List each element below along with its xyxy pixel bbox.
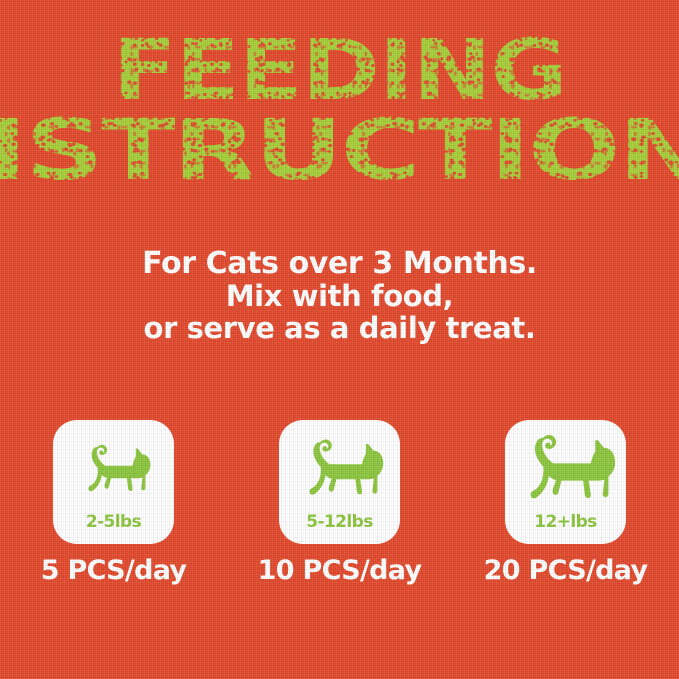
dosage-card: 12+lbs xyxy=(505,420,626,544)
subtitle-line-2: Mix with food, xyxy=(0,280,679,312)
dosage-card-large: 12+lbs 20 PCS/day xyxy=(453,420,679,584)
cat-silhouette-icon xyxy=(515,431,616,509)
dose-amount-label: 10 PCS/day xyxy=(258,557,422,584)
cat-silhouette-icon xyxy=(296,436,384,504)
subtitle-block: For Cats over 3 Months. Mix with food, o… xyxy=(0,248,679,344)
dosage-card-small: 2-5lbs 5 PCS/day xyxy=(1,420,227,584)
cat-icon-wrap xyxy=(505,426,626,514)
dosage-card-row: 2-5lbs 5 PCS/day 5-12lbs 10 PCS/day xyxy=(0,420,679,610)
headline-line-feeding: FEEDING xyxy=(0,28,679,112)
subtitle-line-3: or serve as a daily treat. xyxy=(0,312,679,344)
cat-icon-wrap xyxy=(53,426,174,514)
dosage-card: 2-5lbs xyxy=(53,420,174,544)
dosage-card-medium: 5-12lbs 10 PCS/day xyxy=(227,420,453,584)
weight-range-label: 2-5lbs xyxy=(86,514,141,544)
headline-line-2-text: INSTRUCTIONS xyxy=(0,101,679,199)
feeding-instructions-poster: FEEDING INSTRUCTIONS For Cats over 3 Mon… xyxy=(0,0,679,679)
dose-amount-label: 20 PCS/day xyxy=(484,557,648,584)
subtitle-line-1: For Cats over 3 Months. xyxy=(0,248,679,280)
dose-amount-label: 5 PCS/day xyxy=(41,557,187,584)
dosage-card: 5-12lbs xyxy=(279,420,400,544)
weight-range-label: 12+lbs xyxy=(534,514,596,544)
headline-line-instructions: INSTRUCTIONS xyxy=(0,108,679,192)
weight-range-label: 5-12lbs xyxy=(306,514,372,544)
cat-silhouette-icon xyxy=(77,442,151,499)
cat-icon-wrap xyxy=(279,426,400,514)
